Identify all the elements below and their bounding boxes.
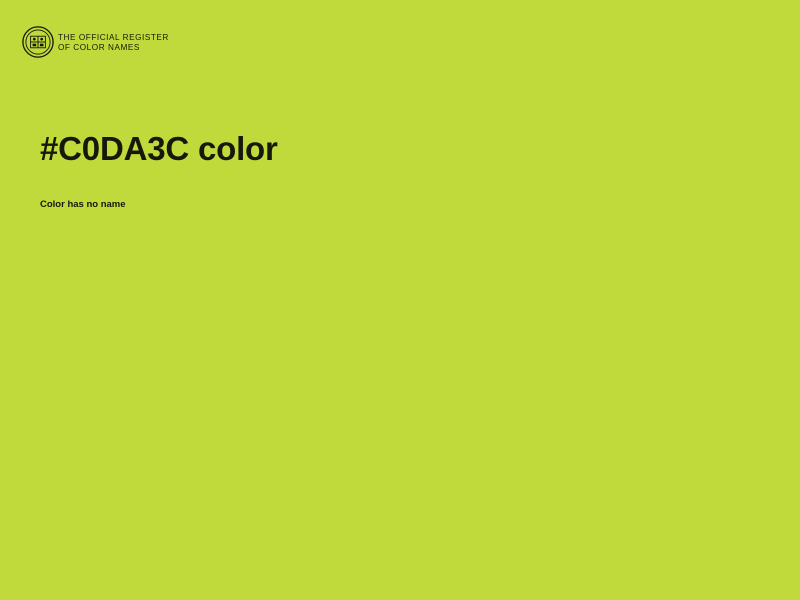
- color-page: THE OFFICIAL REGISTER OF COLOR NAMES #C0…: [0, 0, 800, 600]
- brand-logo[interactable]: THE OFFICIAL REGISTER OF COLOR NAMES: [22, 26, 169, 58]
- brand-logo-line-1: THE OFFICIAL REGISTER: [58, 33, 169, 43]
- brand-logo-text: THE OFFICIAL REGISTER OF COLOR NAMES: [58, 32, 169, 53]
- page-title: #C0DA3C color: [40, 130, 278, 168]
- brand-logo-line-2: OF COLOR NAMES: [58, 43, 169, 53]
- color-name-status: Color has no name: [40, 199, 126, 210]
- official-register-seal-icon: [22, 26, 54, 58]
